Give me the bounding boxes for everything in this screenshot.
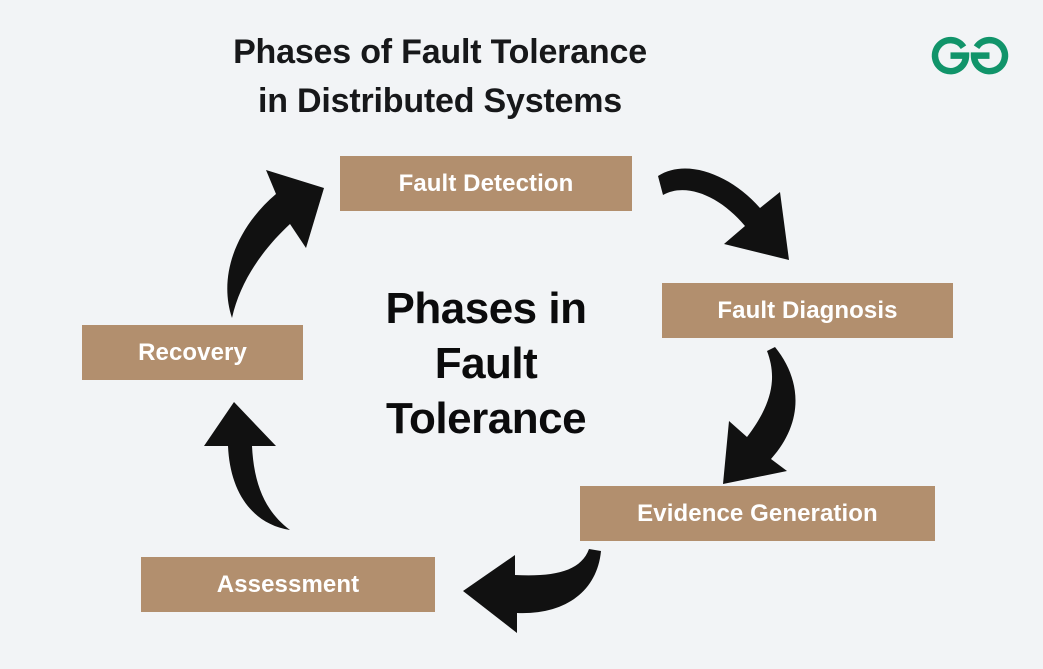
phase-label-fault-detection: Fault Detection xyxy=(399,170,574,198)
center-label-line-1: Phases in xyxy=(340,281,632,336)
geeksforgeeks-logo xyxy=(928,31,1012,77)
phase-box-fault-diagnosis[interactable]: Fault Diagnosis xyxy=(662,283,953,338)
arrow-diagnosis-to-evidence xyxy=(715,345,845,490)
phase-label-recovery: Recovery xyxy=(138,339,247,367)
phase-label-assessment: Assessment xyxy=(217,571,359,599)
arrow-detection-to-diagnosis xyxy=(652,152,812,277)
phase-box-evidence-generation[interactable]: Evidence Generation xyxy=(580,486,935,541)
phase-label-evidence-generation: Evidence Generation xyxy=(637,500,878,528)
center-label: Phases in Fault Tolerance xyxy=(340,281,632,446)
center-label-line-2: Fault xyxy=(340,336,632,391)
center-label-line-3: Tolerance xyxy=(340,391,632,446)
diagram-canvas: Phases of Fault Tolerance in Distributed… xyxy=(0,0,1043,669)
page-title: Phases of Fault Tolerance in Distributed… xyxy=(0,28,880,127)
arrow-evidence-to-assessment xyxy=(455,543,605,638)
phase-label-fault-diagnosis: Fault Diagnosis xyxy=(717,297,897,325)
arrow-assessment-to-recovery xyxy=(186,388,306,543)
phase-box-fault-detection[interactable]: Fault Detection xyxy=(340,156,632,211)
arrow-recovery-to-detection xyxy=(206,158,331,323)
page-title-line-1: Phases of Fault Tolerance xyxy=(0,28,880,77)
phase-box-recovery[interactable]: Recovery xyxy=(82,325,303,380)
page-title-line-2: in Distributed Systems xyxy=(0,77,880,126)
phase-box-assessment[interactable]: Assessment xyxy=(141,557,435,612)
